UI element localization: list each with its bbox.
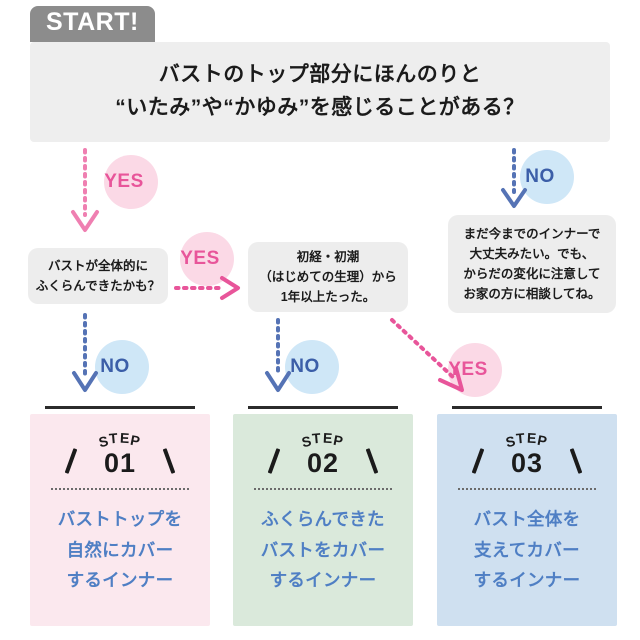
badge-label: YES: [448, 359, 488, 381]
step-description: バスト全体を 支えてカバー するインナー: [474, 504, 581, 596]
step-heading: STEP 01: [45, 428, 195, 484]
info-box-current-inner-ok: まだ今までのインナーで 大丈夫みたい。でも、 からだの変化に注意して お家の方に…: [448, 215, 616, 313]
step-description: ふくらんできた バストをカバー するインナー: [261, 504, 386, 596]
step-word: STEP: [452, 429, 602, 448]
step-description-line: バストトップを: [58, 504, 183, 535]
box-line: まだ今までのインナーで: [464, 224, 601, 244]
box-line: バストが全体的に: [48, 256, 148, 276]
arrow-no-middle-to-step2: [267, 320, 289, 390]
question-line-1: バストのトップ部分にほんのりと: [159, 59, 482, 92]
card-rule-top-step3: [452, 406, 602, 409]
badge-label: YES: [180, 248, 220, 270]
box-line: からだの変化に注意して: [463, 264, 600, 284]
badge-no-left-to-step1: NO: [95, 340, 149, 394]
decision-box-first-period: 初経・初潮 （はじめての生理）から 1年以上たった。: [248, 242, 408, 312]
card-divider: [254, 488, 392, 490]
card-divider: [51, 488, 189, 490]
badge-yes-middle-to-step3: YES: [448, 343, 502, 397]
decision-box-breast-growth: バストが全体的に ふくらんできたかも？: [28, 248, 168, 304]
badge-label: YES: [104, 171, 144, 193]
box-line: 大丈夫みたい。でも、: [470, 244, 595, 264]
question-box: バストのトップ部分にほんのりと “いたみ”や“かゆみ”を感じることがある？: [30, 42, 610, 142]
question-line-2: “いたみ”や“かゆみ”を感じることがある？: [115, 92, 525, 125]
step-description-line: するインナー: [261, 565, 386, 596]
box-line: お家の方に相談してね。: [463, 284, 600, 304]
step-word: STEP: [45, 429, 195, 448]
step-card-03[interactable]: STEP 03 バスト全体を 支えてカバー するインナー: [437, 414, 617, 626]
card-divider: [458, 488, 596, 490]
start-badge: START!: [30, 6, 155, 42]
arrow-no-left-to-step1: [74, 315, 96, 390]
card-rule-top-step1: [45, 406, 195, 409]
step-number: 02: [248, 448, 398, 479]
step-card-02[interactable]: STEP 02 ふくらんできた バストをカバー するインナー: [233, 414, 413, 626]
step-description-line: 支えてカバー: [474, 535, 581, 566]
badge-yes-left-to-middle: YES: [180, 232, 234, 286]
step-description-line: バスト全体を: [474, 504, 581, 535]
box-line: 1年以上たった。: [281, 287, 375, 307]
step-card-01[interactable]: STEP 01 バストトップを 自然にカバー するインナー: [30, 414, 210, 626]
badge-label: NO: [100, 356, 130, 378]
badge-no-middle-to-step2: NO: [285, 340, 339, 394]
badge-no-question-to-right: NO: [520, 150, 574, 204]
step-number: 03: [452, 448, 602, 479]
step-description-line: 自然にカバー: [58, 535, 183, 566]
badge-label: NO: [525, 166, 555, 188]
arrow-yes-question-to-left: [73, 150, 97, 230]
badge-yes-question-to-left: YES: [104, 155, 158, 209]
step-heading: STEP 03: [452, 428, 602, 484]
box-line: 初経・初潮: [297, 247, 360, 267]
badge-label: NO: [290, 356, 320, 378]
step-description-line: ふくらんできた: [261, 504, 386, 535]
step-number: 01: [45, 448, 195, 479]
card-rule-top-step2: [248, 406, 398, 409]
step-word: STEP: [248, 429, 398, 448]
box-line: ふくらんできたかも？: [36, 276, 160, 296]
step-description-line: するインナー: [58, 565, 183, 596]
step-description-line: するインナー: [474, 565, 581, 596]
step-description: バストトップを 自然にカバー するインナー: [58, 504, 183, 596]
step-description-line: バストをカバー: [261, 535, 386, 566]
box-line: （はじめての生理）から: [259, 267, 397, 287]
step-heading: STEP 02: [248, 428, 398, 484]
